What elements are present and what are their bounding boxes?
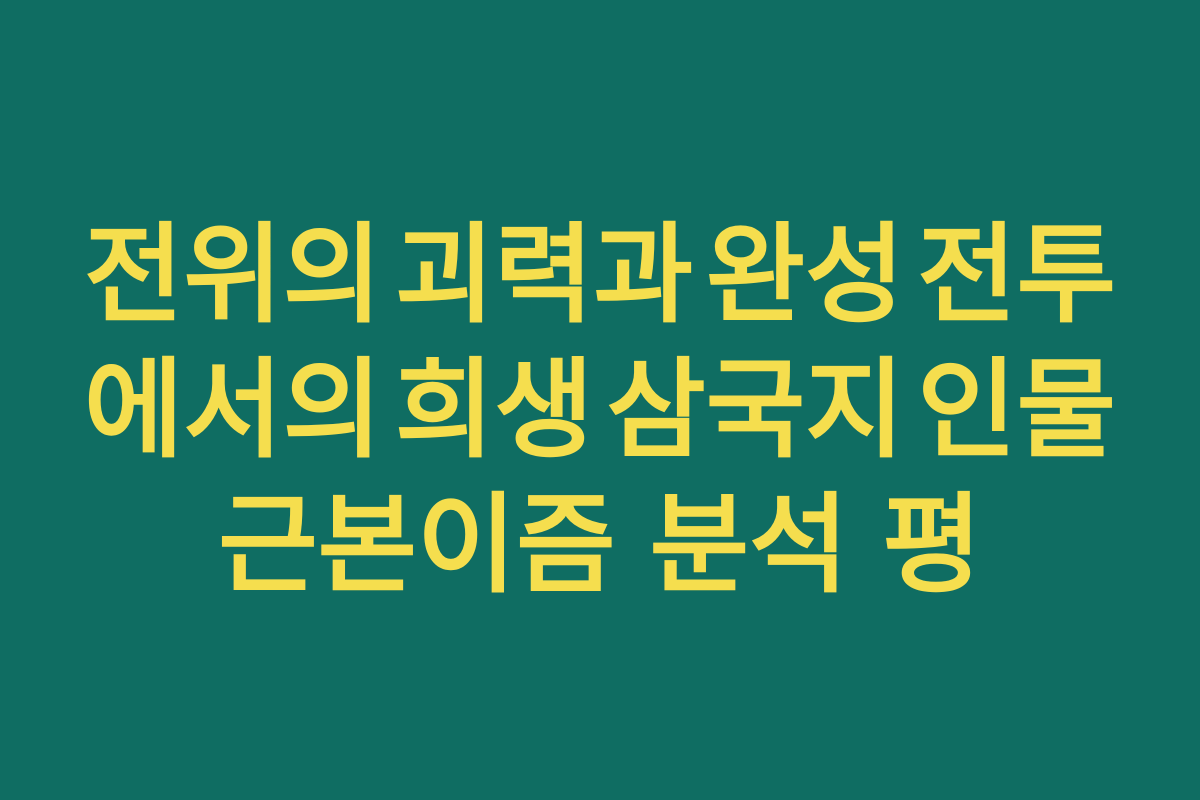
headline-word: 희생 <box>395 343 594 478</box>
headline-word: 인물 <box>917 343 1116 478</box>
headline-word: 전투 <box>917 208 1116 343</box>
headline-line-3: 근본이즘 분석 평 <box>84 478 1116 613</box>
headline-word: 에서의 <box>84 343 382 478</box>
headline-word: 평 <box>882 478 981 613</box>
headline-word: 삼국지 <box>606 343 904 478</box>
headline-word: 근본이즘 <box>218 478 615 613</box>
headline-line-2: 에서의 희생 삼국지 인물 <box>84 343 1116 478</box>
headline-line-1: 전위의 괴력과 완성 전투 <box>84 208 1116 343</box>
headline-word: 전위의 <box>84 208 382 343</box>
headline-card: 전위의 괴력과 완성 전투 에서의 희생 삼국지 인물 근본이즘 분석 평 <box>0 0 1200 800</box>
headline-word: 완성 <box>706 208 905 343</box>
headline-word: 분석 <box>650 478 849 613</box>
headline-word: 괴력과 <box>395 208 693 343</box>
page-title: 전위의 괴력과 완성 전투 에서의 희생 삼국지 인물 근본이즘 분석 평 <box>84 208 1116 613</box>
